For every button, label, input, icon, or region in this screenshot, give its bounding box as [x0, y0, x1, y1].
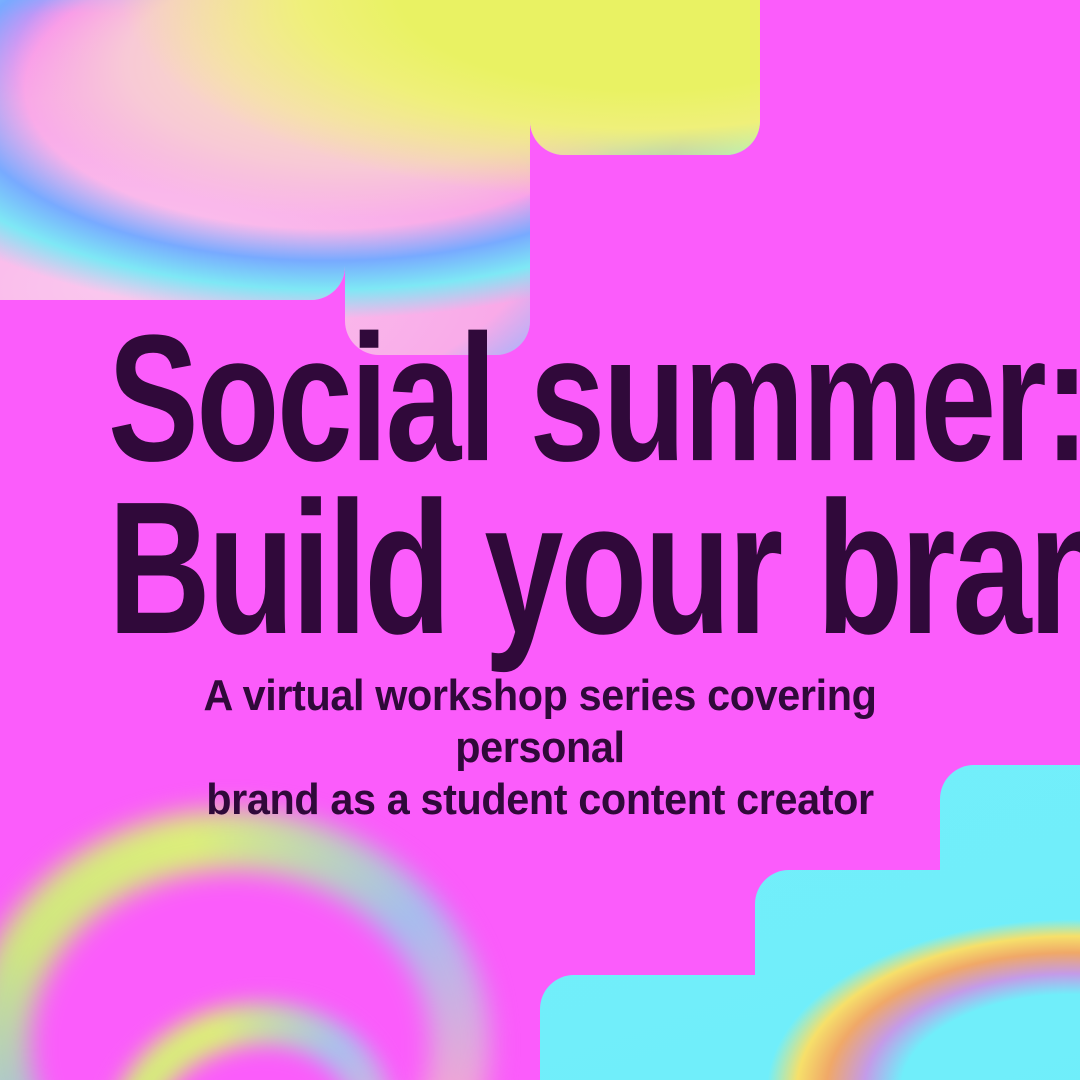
cyan-step-2 [755, 870, 955, 1080]
cyan-step-1 [940, 765, 1080, 1080]
top-step-3 [530, 0, 760, 155]
rainbow-arc-gradient [940, 765, 1080, 1080]
cyan-step-3 [540, 975, 780, 1080]
top-gradient-swirl [0, 0, 345, 300]
top-step-1 [0, 0, 345, 300]
top-left-stepped-decoration [0, 0, 760, 360]
rainbow-arc-gradient [755, 870, 955, 1080]
top-gradient-swirl [530, 0, 760, 155]
top-gradient-swirl [345, 0, 530, 355]
bottom-right-stepped-decoration [520, 745, 1080, 1080]
bottom-left-spiral-decoration [0, 790, 590, 1080]
top-step-2 [345, 0, 530, 355]
rainbow-arc-gradient [540, 975, 780, 1080]
poster-canvas: Social summer: Build your brand A virtua… [0, 0, 1080, 1080]
